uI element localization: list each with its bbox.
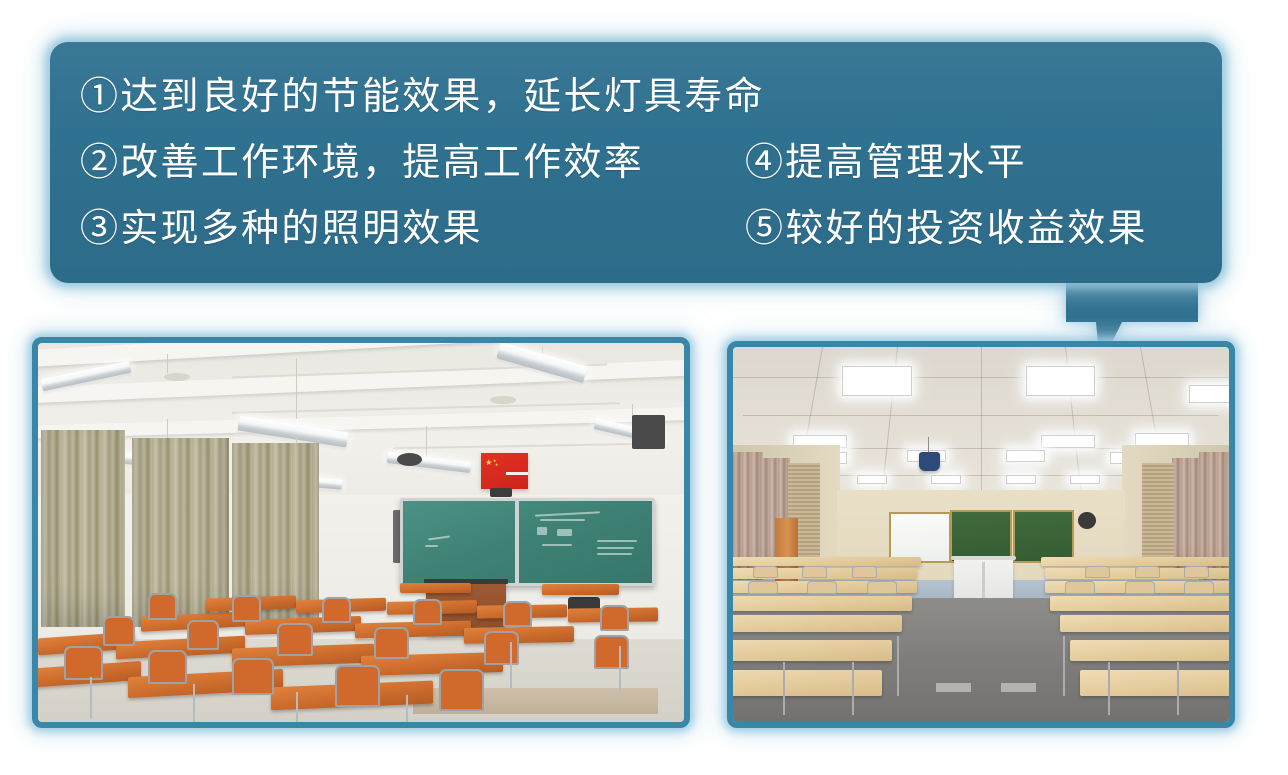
student-chair [1184, 566, 1209, 577]
ceiling-fan [164, 373, 190, 381]
student-chair [852, 566, 877, 577]
fixture-rod [426, 426, 427, 456]
benefits-callout-bubble: ①达到良好的节能效果，延长灯具寿命 ②改善工作环境，提高工作效率 ④提高管理水平… [50, 42, 1222, 283]
furniture-leg [852, 662, 854, 715]
whiteboard [889, 512, 951, 563]
floor-marking [1001, 683, 1036, 692]
lectern-top [951, 556, 1015, 561]
led-panel-light [1189, 385, 1229, 404]
benefit-item-2: ②改善工作环境，提高工作效率 [80, 130, 745, 196]
student-desk [400, 583, 471, 594]
student-chair [600, 605, 629, 632]
student-chair [594, 635, 630, 669]
led-panel-light [1070, 475, 1100, 484]
student-chair [1135, 566, 1160, 577]
student-desk [1060, 615, 1229, 632]
benefit-item-4: ④提高管理水平 [745, 130, 1027, 196]
benefit-line-3: ③实现多种的照明效果 ⑤较好的投资收益效果 [80, 196, 1192, 262]
chalk-writing [425, 545, 437, 547]
furniture-leg [193, 684, 195, 722]
furniture-leg [1063, 636, 1065, 696]
student-desk [1080, 670, 1229, 696]
student-chair [413, 599, 442, 626]
student-chair [484, 631, 520, 665]
wall-fan [1078, 512, 1096, 529]
traditional-classroom-scene: ★ ★ ★ [38, 343, 684, 722]
furniture-leg [619, 646, 621, 691]
led-classroom-scene [733, 347, 1229, 722]
student-chair [1125, 581, 1155, 594]
chalk-writing [537, 527, 547, 535]
chalk-writing [597, 540, 637, 542]
benefit-item-3: ③实现多种的照明效果 [80, 196, 745, 262]
fixture-rod [296, 358, 297, 419]
student-chair [148, 593, 177, 620]
student-chair [753, 566, 778, 577]
benefit-item-5: ⑤较好的投资收益效果 [745, 196, 1148, 262]
chalk-writing [428, 536, 450, 541]
projector [490, 488, 512, 497]
traditional-classroom-photo: ★ ★ ★ [32, 337, 690, 728]
student-chair [335, 665, 380, 707]
furniture-leg [510, 642, 512, 687]
furniture-leg [897, 636, 899, 696]
student-desk [1041, 557, 1229, 566]
chalk-writing [542, 544, 572, 546]
student-chair [64, 646, 103, 680]
led-panel-light [1041, 435, 1096, 448]
led-panel-light [1006, 475, 1036, 484]
led-panel-light [1006, 450, 1046, 462]
led-panel-light [857, 475, 887, 484]
student-desk [733, 615, 902, 632]
ceiling-grid-line [981, 347, 982, 490]
furniture-leg [1177, 662, 1179, 715]
chalk-writing [597, 547, 634, 549]
student-chair [503, 601, 532, 628]
furniture-leg [90, 677, 92, 719]
chalk-writing [540, 519, 585, 521]
flag-band [506, 472, 528, 476]
student-chair [277, 623, 313, 655]
benefit-item-1: ①达到良好的节能效果，延长灯具寿命 [80, 64, 745, 130]
student-chair [187, 620, 219, 650]
furniture-leg [783, 662, 785, 715]
student-chair [374, 627, 410, 659]
benefit-line-1: ①达到良好的节能效果，延长灯具寿命 [80, 64, 1192, 130]
ceiling-fan [490, 396, 516, 404]
student-desk [1070, 640, 1229, 661]
chalk-writing [597, 553, 632, 555]
student-chair [232, 595, 261, 622]
furniture-leg [1108, 662, 1110, 715]
student-desk [1050, 596, 1229, 610]
student-chair [103, 616, 135, 646]
national-flag: ★ ★ ★ [481, 453, 529, 489]
led-panel-light [1026, 366, 1095, 396]
student-chair [148, 650, 187, 684]
student-desk [464, 626, 574, 644]
student-desk [733, 640, 892, 661]
projector [919, 452, 940, 471]
student-chair [802, 566, 827, 577]
student-chair [322, 597, 351, 624]
student-desk [733, 670, 882, 696]
student-chair [439, 669, 484, 711]
callout-text-block: ①达到良好的节能效果，延长灯具寿命 ②改善工作环境，提高工作效率 ④提高管理水平… [50, 42, 1222, 283]
student-desk [542, 584, 620, 595]
wall-speaker [632, 415, 664, 449]
student-chair [1065, 581, 1095, 594]
floor-marking [936, 683, 971, 692]
led-classroom-photo [727, 341, 1235, 728]
student-chair [232, 658, 274, 696]
chalkboard-divider [515, 501, 519, 582]
student-chair [807, 581, 837, 594]
chalk-writing [557, 529, 572, 536]
fixture-rod [167, 354, 168, 373]
student-desk [733, 596, 912, 610]
green-board [950, 510, 1012, 563]
student-desk [733, 557, 921, 566]
green-board [1013, 510, 1075, 563]
led-panel-light [931, 475, 961, 484]
student-chair [748, 581, 778, 594]
student-chair [1085, 566, 1110, 577]
furniture-leg [296, 692, 298, 722]
window-curtain [41, 430, 125, 627]
furniture-leg [406, 695, 408, 722]
chalk-writing [535, 511, 600, 516]
chalkboard [400, 498, 655, 585]
benefit-line-2: ②改善工作环境，提高工作效率 ④提高管理水平 [80, 130, 1192, 196]
student-chair [1184, 581, 1214, 594]
led-panel-light [842, 366, 911, 396]
student-chair [867, 581, 897, 594]
callout-body: ①达到良好的节能效果，延长灯具寿命 ②改善工作环境，提高工作效率 ④提高管理水平… [50, 42, 1222, 283]
